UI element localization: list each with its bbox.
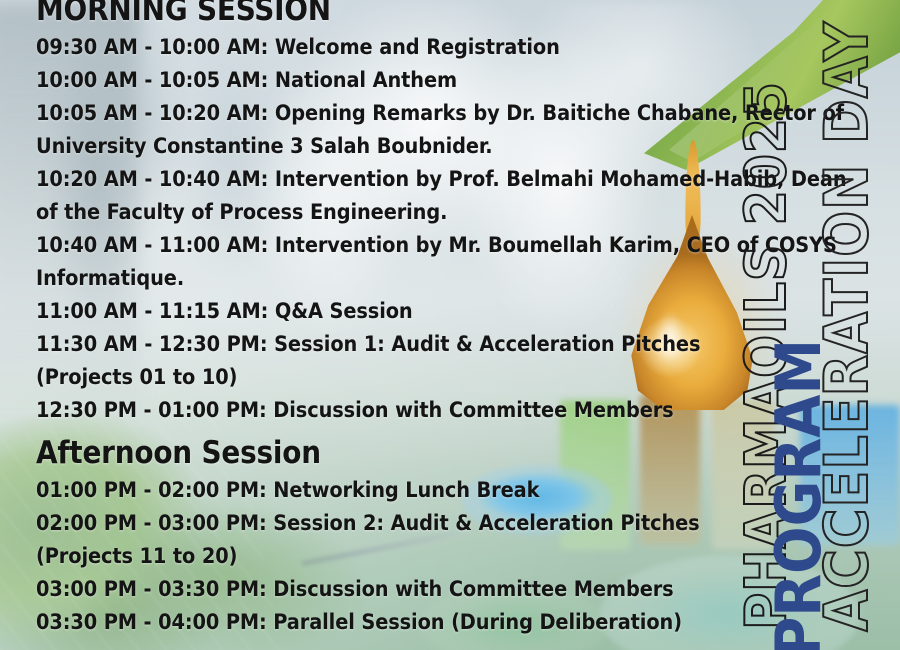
list-item: Informatique. [36, 262, 720, 295]
list-item: 11:30 AM - 12:30 PM: Session 1: Audit & … [36, 328, 720, 361]
afternoon-session-heading: Afternoon Session [36, 438, 720, 469]
list-item: University Constantine 3 Salah Boubnider… [36, 130, 720, 163]
list-item: (Projects 11 to 20) [36, 540, 720, 573]
list-item: 03:30 PM - 04:00 PM: Parallel Session (D… [36, 606, 720, 639]
program-content: MORNING SESSION 09:30 AM - 10:00 AM: Wel… [0, 0, 720, 650]
list-item: 10:05 AM - 10:20 AM: Opening Remarks by … [36, 97, 720, 130]
list-item: 10:40 AM - 11:00 AM: Intervention by Mr.… [36, 229, 720, 262]
poster-canvas: MORNING SESSION 09:30 AM - 10:00 AM: Wel… [0, 0, 900, 650]
list-item: (Projects 01 to 10) [36, 361, 720, 394]
morning-session-heading: MORNING SESSION [36, 0, 720, 26]
list-item: 01:00 PM - 02:00 PM: Networking Lunch Br… [36, 474, 720, 507]
list-item: 02:00 PM - 03:00 PM: Session 2: Audit & … [36, 507, 720, 540]
list-item: 10:00 AM - 10:05 AM: National Anthem [36, 64, 720, 97]
list-item: 12:30 PM - 01:00 PM: Discussion with Com… [36, 394, 720, 427]
program-label-vertical: PROGRAM [762, 339, 835, 650]
list-item: 10:20 AM - 10:40 AM: Intervention by Pro… [36, 163, 720, 196]
list-item: 09:30 AM - 10:00 AM: Welcome and Registr… [36, 31, 720, 64]
morning-session-list: 09:30 AM - 10:00 AM: Welcome and Registr… [36, 31, 720, 427]
list-item: of the Faculty of Process Engineering. [36, 196, 720, 229]
afternoon-session-list: 01:00 PM - 02:00 PM: Networking Lunch Br… [36, 474, 720, 639]
list-item: 11:00 AM - 11:15 AM: Q&A Session [36, 295, 720, 328]
list-item: 03:00 PM - 03:30 PM: Discussion with Com… [36, 573, 720, 606]
